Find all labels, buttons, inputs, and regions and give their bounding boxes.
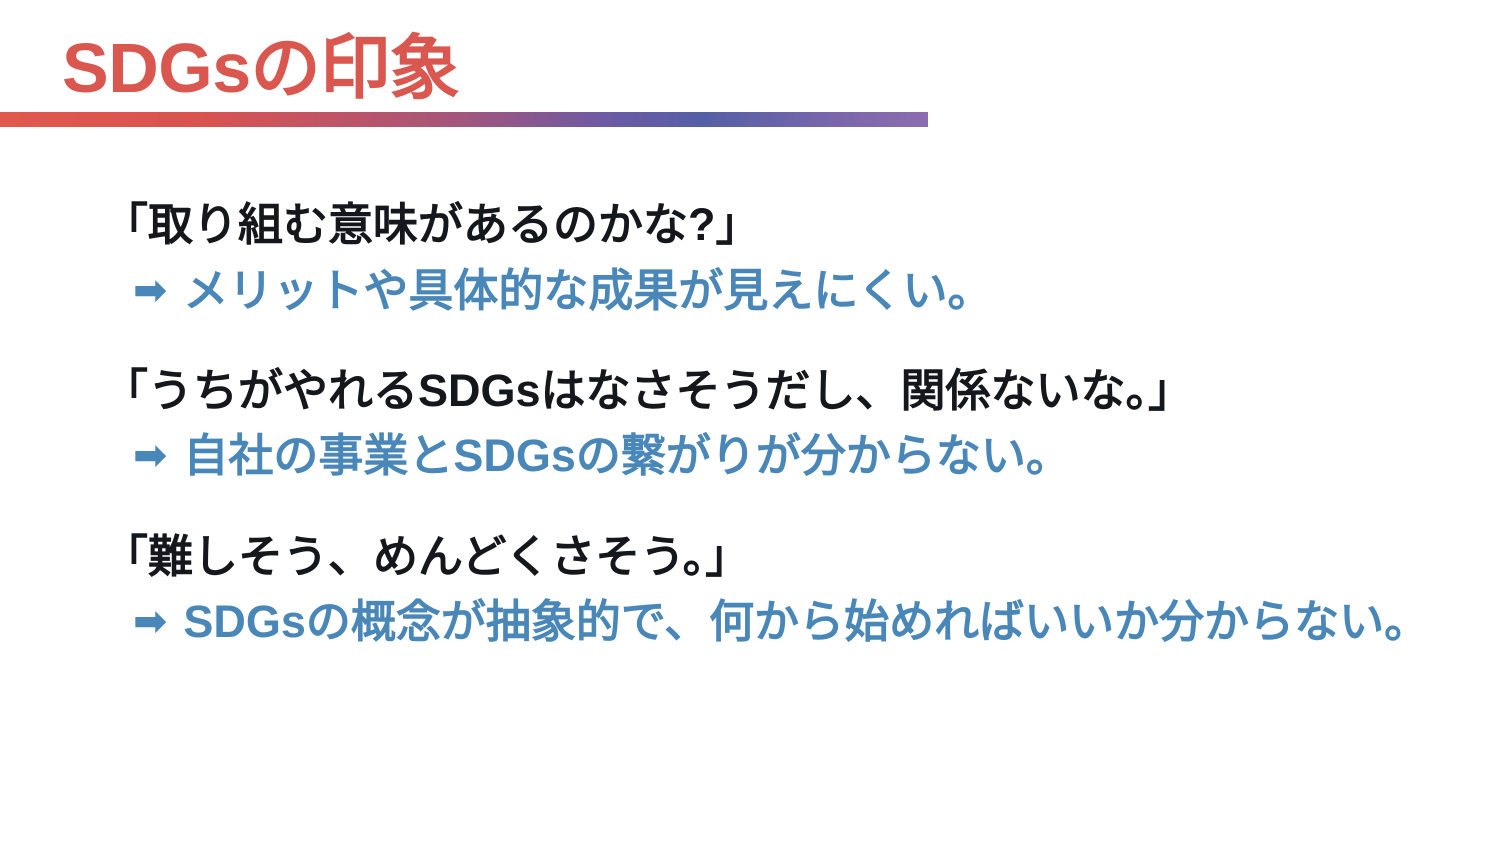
quote-group: 「難しそう、めんどくさそう。」 ➡SDGsの概念が抽象的で、何から始めればいいか… <box>0 528 1500 652</box>
quote-group: 「うちがやれるSDGsはなさそうだし、関係ないな。」 ➡自社の事業とSDGsの繋… <box>0 362 1500 486</box>
result-row: ➡SDGsの概念が抽象的で、何から始めればいいか分からない。 <box>0 592 1500 651</box>
result-text: メリットや具体的な成果が見えにくい。 <box>183 265 992 316</box>
result-text: SDGsの概念が抽象的で、何から始めればいいか分からない。 <box>183 596 1429 647</box>
arrow-right-icon: ➡ <box>133 435 167 476</box>
page-title: SDGsの印象 <box>62 33 459 103</box>
quote-group: 「取り組む意味があるのかな?」 ➡メリットや具体的な成果が見えにくい。 <box>0 196 1500 320</box>
result-text: 自社の事業とSDGsの繋がりが分からない。 <box>183 430 1071 481</box>
title-underline-gradient-bar <box>0 112 928 127</box>
body-content: 「取り組む意味があるのかな?」 ➡メリットや具体的な成果が見えにくい。 「うちが… <box>0 196 1500 652</box>
arrow-right-icon: ➡ <box>133 270 167 311</box>
result-row: ➡メリットや具体的な成果が見えにくい。 <box>0 261 1500 320</box>
quote-text: 「難しそう、めんどくさそう。」 <box>0 528 1500 587</box>
title-block: SDGsの印象 <box>0 0 1500 130</box>
arrow-right-icon: ➡ <box>133 601 167 642</box>
result-row: ➡自社の事業とSDGsの繋がりが分からない。 <box>0 426 1500 485</box>
slide: SDGsの印象 「取り組む意味があるのかな?」 ➡メリットや具体的な成果が見えに… <box>0 0 1500 844</box>
quote-text: 「取り組む意味があるのかな?」 <box>0 196 1500 255</box>
quote-text: 「うちがやれるSDGsはなさそうだし、関係ないな。」 <box>0 362 1500 421</box>
